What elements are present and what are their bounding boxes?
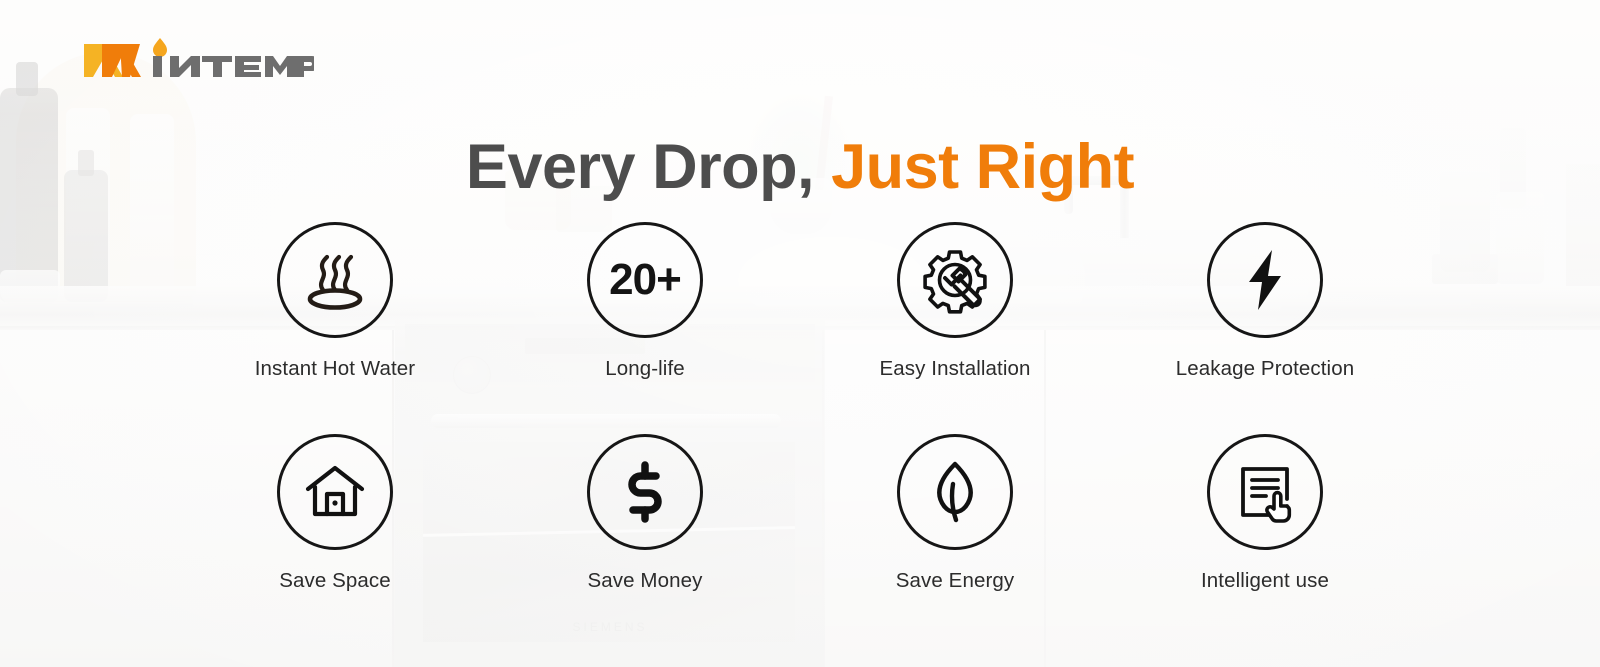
promo-banner: SIEMENS: [0, 0, 1600, 667]
feature-item-save-energy[interactable]: Save Energy: [825, 434, 1085, 646]
twenty-plus-years-icon: 20+: [587, 222, 703, 338]
document-tap-icon: [1207, 434, 1323, 550]
feature-label: Intelligent use: [1201, 569, 1329, 593]
feature-item-save-space[interactable]: Save Space: [205, 434, 465, 646]
dollar-sign-icon: [587, 434, 703, 550]
wintemp-logo[interactable]: [82, 36, 314, 86]
headline-part-b: Just Right: [831, 132, 1134, 202]
feature-item-instant-hot-water[interactable]: Instant Hot Water: [205, 222, 465, 434]
twenty-plus-value: 20+: [609, 258, 681, 302]
page-title: Every Drop, Just Right: [0, 134, 1600, 200]
feature-item-leakage-protection[interactable]: Leakage Protection: [1135, 222, 1395, 434]
headline-part-a: Every Drop,: [466, 132, 814, 202]
feature-grid: Instant Hot Water 20+ Long-life: [180, 222, 1420, 646]
feature-label: Save Energy: [896, 569, 1014, 593]
feature-label: Leakage Protection: [1176, 357, 1354, 381]
feature-label: Save Space: [279, 569, 391, 593]
feature-item-easy-installation[interactable]: Easy Installation: [825, 222, 1085, 434]
house-icon: [277, 434, 393, 550]
feature-item-long-life[interactable]: 20+ Long-life: [515, 222, 775, 434]
banner-content: Every Drop, Just Right: [0, 0, 1600, 667]
leaf-icon: [897, 434, 1013, 550]
feature-label: Save Money: [588, 569, 703, 593]
lightning-bolt-icon: [1207, 222, 1323, 338]
steam-hot-water-icon: [277, 222, 393, 338]
feature-label: Instant Hot Water: [255, 357, 415, 381]
feature-label: Easy Installation: [880, 357, 1031, 381]
feature-item-intelligent-use[interactable]: Intelligent use: [1135, 434, 1395, 646]
gear-wrench-icon: [897, 222, 1013, 338]
feature-label: Long-life: [605, 357, 685, 381]
feature-item-save-money[interactable]: Save Money: [515, 434, 775, 646]
